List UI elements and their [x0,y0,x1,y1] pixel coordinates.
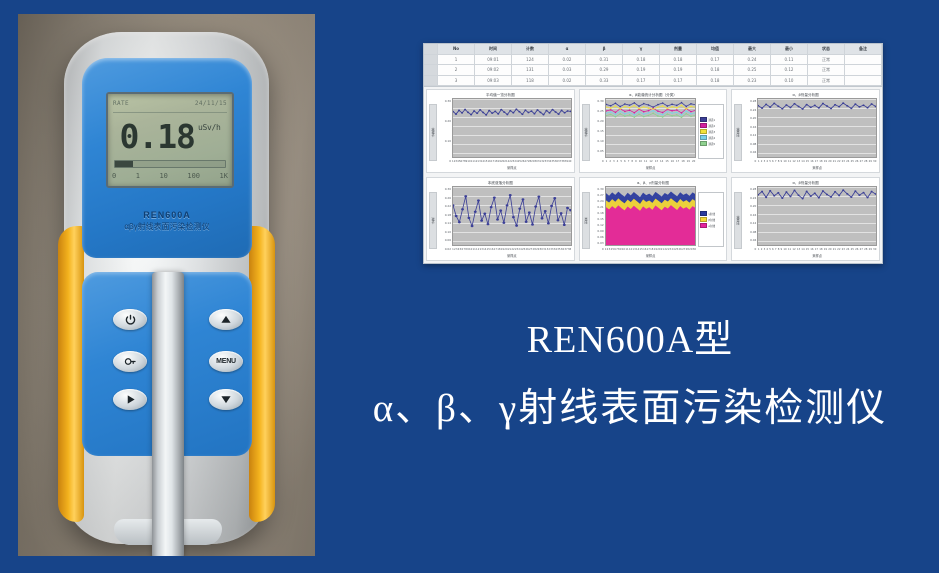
chart-data-point [563,224,566,226]
chart-x-axis-label: 采样点 [757,165,877,171]
table-cell: 0.29 [586,65,623,75]
chart-data-point [610,114,612,116]
chart-data-point [847,105,849,107]
chart-data-point [547,222,550,224]
chart-body: 计数率0.300.250.200.150.100.050123456789101… [582,98,725,171]
chart-x-ticks: 1234567891011121314151617181920212223242… [757,246,877,253]
chart-y-tick: 0.27 [591,193,604,197]
table-cell: 正常 [808,55,845,65]
legend-item: 通道2 [700,123,722,128]
chart-data-point [628,104,630,106]
chart-data-point [690,116,692,118]
chart-data-point [551,109,553,111]
chart-data-point [773,102,775,104]
table-header-cell: α [549,44,586,54]
chart-x-tick: 29 [869,248,872,251]
chart-data-point [790,107,792,109]
chart-x-tick: 17 [815,248,818,251]
legend-label: 通道4 [708,136,715,140]
chart-legend: 通道1通道2通道3通道4通道5 [698,104,724,159]
chart-y-tick: 0.20 [438,119,451,123]
chart-data-point [542,114,544,116]
legend-label: 通道1 [708,118,715,122]
chart-data-point [512,216,515,218]
table-row: 309:031180.020.330.170.170.180.230.10正常 [424,76,882,87]
chart-plot-area [605,186,697,246]
chart-x-axis-label: 采样点 [605,165,697,171]
chart-x-axis-label: 采样点 [605,253,697,259]
chart-data-point [500,109,502,111]
legend-swatch [700,117,707,122]
chart-data-point [606,115,607,117]
table-cell: 0.18 [697,65,734,75]
chart-data-point [661,114,663,116]
row-marker [424,55,438,65]
chart-x-axis-label: 采样点 [452,253,572,259]
chart-data-point [810,106,812,108]
chart-body: 剂量率0.280.240.200.160.120.080.04012345678… [734,98,877,171]
lcd-value: 0.18 [119,120,194,153]
chart-data-point [479,109,481,111]
legend-swatch [700,211,707,216]
chart-x-tick: 18 [819,160,822,163]
chart-body: 计数0.300.260.220.180.140.100.060.02123456… [429,186,572,259]
chart-x-tick: 8 [631,160,633,163]
legend-item: 通道5 [700,141,722,146]
chart-data-point [676,114,678,116]
chart-data-point [499,209,502,211]
chart-data-point [838,195,840,197]
chart-y-tick: 0.21 [591,205,604,209]
chart-data-point [798,106,800,108]
legend-label: β射线 [708,218,715,222]
chart-data-point [471,225,474,227]
chart-data-point [628,112,630,114]
chart-y-tick: 0 [743,247,756,251]
menu-button-label: MENU [216,358,236,365]
chart-data-point [782,108,784,110]
chart-y-ticks: 0.300.250.200.150.100.050 [591,98,605,171]
chart-y-ticks: 0.280.240.200.160.120.080.040 [743,186,757,259]
chart-data-point [826,194,828,196]
chart-x-tick: 5 [769,248,771,251]
chart-data-point [676,109,678,111]
chart-data-point [506,204,509,206]
chart-data-point [661,112,663,114]
chart-data-point [470,114,472,116]
chart-data-point [536,109,538,111]
chart-data-point [533,113,535,115]
chart-data-point [502,222,505,224]
chart-data-point [643,113,645,115]
chart-y-tick: 0.15 [591,217,604,221]
chart-plot-area [452,186,572,246]
device-lcd-display: RATE 24/11/15 0.18 uSv/h 01101001K [106,92,234,188]
chart-data-point [515,108,517,110]
chart-data-point [506,114,508,116]
chart-data-point [567,110,569,112]
table-cell: 0.19 [660,65,697,75]
chart-data-point [633,112,635,114]
chart-data-point [680,102,682,104]
up-button[interactable] [209,309,243,330]
chart-x-tick: 7 [775,248,777,251]
chart-data-point [685,113,687,115]
table-cell: 0.02 [549,76,586,86]
chart-data-point [473,110,475,112]
software-screenshot: No时间计数αβγ剂量均值最大最小状态备注109:011240.020.310.… [423,43,883,264]
chart-x-tick: 10 [639,160,642,163]
chart-data-point [485,114,487,116]
chart-data-point [524,109,526,111]
chart-y-axis-label: 计数率 [429,104,437,161]
chart-data-point [676,111,678,113]
table-cell: 0.17 [697,55,734,65]
chart-data-point [657,115,659,117]
chart-data-point [761,107,763,109]
table-cell: 09:01 [475,55,512,65]
chart-x-tick: 25 [851,160,854,163]
chart-y-tick: 0.09 [591,229,604,233]
legend-item: 通道3 [700,129,722,134]
chart-data-point [539,111,541,113]
chart-y-tick: 0 [591,247,604,251]
chart-plot-wrap: 1234567891011121314151617181920采样点 [605,98,697,171]
chart-y-tick: 0.10 [591,139,604,143]
chart-data-point [871,191,873,193]
chart-x-tick: 11 [788,248,791,251]
chart-x-tick: 5 [620,160,622,163]
chart-data-point [606,112,607,114]
chart-y-tick: 0 [743,159,756,163]
chart-data-point [525,221,528,223]
chart-data-point [606,104,607,106]
chart-data-point [695,107,696,109]
chart-x-tick: 15 [806,248,809,251]
chart-y-axis-label: 剂量率 [734,104,742,161]
chart-data-point [847,193,849,195]
chart-y-tick: 0.30 [438,99,451,103]
chart-data-point [633,116,635,118]
lcd-scale-tick: 1 [136,172,140,180]
chart-y-tick: 0.12 [591,223,604,227]
chart-data-point [461,112,463,114]
chart-data-point [509,194,512,196]
chart-data-point [695,112,696,114]
table-header-cell: β [586,44,623,54]
legend-item: γ射线 [700,211,722,216]
chart-data-point [531,223,534,225]
chart-data-point [666,113,668,115]
chart-data-point [863,192,865,194]
chart-x-tick: 12 [649,160,652,163]
menu-button[interactable]: MENU [209,351,243,372]
chart-y-tick: 0.16 [743,213,756,217]
chart-data-point [690,111,692,113]
chart-data-point [614,111,616,113]
table-cell [845,55,882,65]
lcd-scale-ticks: 01101001K [112,170,228,182]
chart-y-tick: 0.30 [591,187,604,191]
chart-x-tick: 22 [837,248,840,251]
chart-data-point [561,110,563,112]
table-header-cell: 时间 [475,44,512,54]
chart-y-tick: 0.10 [438,139,451,143]
chart-x-tick: 14 [660,160,663,163]
chart-data-point [467,111,469,113]
chart-data-point [680,114,682,116]
table-header-cell: 剂量 [660,44,697,54]
chart-data-point [867,197,869,199]
chart-data-point [638,111,640,113]
chart-x-tick: 17 [815,160,818,163]
chart-plot-area [757,98,877,158]
chart-x-tick: 3 [764,160,766,163]
power-button[interactable] [113,309,147,330]
chart-data-point [550,205,553,207]
chart-y-tick: 0.28 [743,187,756,191]
chart-data-point [695,110,696,112]
light-button[interactable] [113,351,147,372]
chart-data-point [488,110,490,112]
table-cell: 0.03 [549,65,586,75]
chart-x-tick: 4 [766,160,768,163]
chart-x-tick: 26 [855,160,858,163]
chart-data-point [769,190,771,192]
chart-y-axis-label: 计数率 [582,104,590,161]
chart-x-tick: 11 [788,160,791,163]
legend-label: 通道3 [708,130,715,134]
chart-data-point [633,114,635,116]
table-header-row: No时间计数αβγ剂量均值最大最小状态备注 [424,44,882,55]
legend-swatch [700,129,707,134]
chart-y-tick: 0.05 [591,149,604,153]
chart-x-ticks: 1234567891011121314151617181920212223242… [452,246,572,253]
table-cell: 正常 [808,65,845,75]
chart-x-tick: 7 [628,160,630,163]
chart-y-axis-label: 计数 [429,192,437,249]
chart-data-point [480,219,483,221]
chart-data-point [871,103,873,105]
chart-data-point [455,215,458,217]
chart-data-point [619,113,621,115]
lcd-scale-tick: 1K [220,172,228,180]
chart-y-tick: 0.12 [743,221,756,225]
legend-swatch [700,141,707,146]
chart-data-point [614,102,616,104]
legend-swatch [700,217,707,222]
chart-data-point [560,212,563,214]
chart-y-axis-label: 剂量率 [734,192,742,249]
chart-data-point [842,102,844,104]
chart-y-tick: 0.08 [743,142,756,146]
chart-y-tick: 0.28 [743,99,756,103]
chart-data-point [638,113,640,115]
chart-data-point [802,108,804,110]
chart-data-point [541,217,544,219]
chart-plot-wrap: 1234567891011121314151617181920212223242… [452,186,572,259]
chart-x-tick: 9 [635,160,637,163]
chart-x-tick: 28 [864,248,867,251]
chart-x-tick: 20 [828,248,831,251]
chart-data-point [680,116,682,118]
chart-y-tick: 0.06 [438,238,451,242]
legend-swatch [700,123,707,128]
chart-x-tick: 12 [792,248,795,251]
chart-data-point [671,115,673,117]
chart-data-point [474,211,477,213]
chart-data-point [624,106,626,108]
chart-data-point [518,207,521,209]
chart-data-point [773,195,775,197]
chart-data-point [851,107,853,109]
chart-y-tick: 0.30 [438,187,451,191]
chart-x-tick: 2 [761,160,763,163]
lcd-status-right: 24/11/15 [195,100,227,107]
table-cell: 2 [438,65,475,75]
chart-data-point [624,111,626,113]
chart-data-point [647,115,649,117]
chart-data-point [476,112,478,114]
chart-y-ticks: 0.280.240.200.160.120.080.040 [743,98,757,171]
chart-body: 剂量0.300.270.240.210.180.150.120.090.060.… [582,186,725,259]
chart-data-point [614,114,616,116]
chart-x-tick: 28 [864,160,867,163]
chart-data-point [643,106,645,108]
chart-x-tick: 3 [613,160,615,163]
chart-x-tick: 1 [758,160,760,163]
chart-y-tick: 0 [438,159,451,163]
chart-data-point [467,217,470,219]
slide-root: RATE 24/11/15 0.18 uSv/h 01101001K REN60… [0,0,939,573]
chart-x-tick: 30 [873,248,876,251]
up-arrow-icon [220,314,232,325]
chart-data-point [855,190,857,192]
lcd-unit: uSv/h [198,123,221,132]
chart-series-area [606,205,696,245]
chart-plot-wrap: 1234567891011121314151617181920212223242… [605,186,697,259]
chart-data-point [628,114,630,116]
chart-data-point [458,110,460,112]
chart-x-tick: 10 [783,248,786,251]
table-cell: 09:03 [475,76,512,86]
legend-item: 通道4 [700,135,722,140]
chart-data-point [647,110,649,112]
chart-data-point [624,115,626,117]
chart-data-point [685,110,687,112]
chart-x-tick: 16 [810,248,813,251]
chart-data-point [490,206,493,208]
chart-x-tick: 19 [824,160,827,163]
chart-y-tick: 0.26 [438,196,451,200]
chart-x-tick: 5 [769,160,771,163]
chart-data-point [633,105,635,107]
chart-grid: 平均值一览分析图计数率0.300.200.1001234567891011121… [424,87,882,263]
chart-data-point [769,106,771,108]
lcd-divider [113,112,227,113]
chart-data-point [830,108,832,110]
chart-x-tick: 15 [806,160,809,163]
lcd-scale-tick: 100 [187,172,200,180]
chart-y-tick: 0.12 [743,133,756,137]
chart-data-point [530,110,532,112]
device-grip-right [249,226,275,522]
chart-y-tick: 0.24 [743,108,756,112]
chart-data-point [537,196,540,198]
chart-data-point [834,191,836,193]
chart-alpha-rate: 平均值一览分析图计数率0.300.200.1001234567891011121… [426,89,575,173]
chart-x-tick: 9 [781,160,783,163]
chart-x-tick: 21 [833,248,836,251]
table-cell: 0.18 [623,55,660,65]
chart-x-tick: 13 [797,248,800,251]
lcd-scale-tick: 10 [159,172,167,180]
chart-data-point [859,106,861,108]
chart-data-point [464,195,467,197]
chart-x-tick: 11 [644,160,647,163]
chart-y-axis-label: 剂量 [582,192,590,249]
chart-data-point [822,103,824,105]
chart-data-point [657,106,659,108]
table-cell: 0.02 [549,55,586,65]
table-cell: 131 [512,65,549,75]
chart-body: 计数率0.300.200.100123456789101112131415161… [429,98,572,171]
table-header-cell: 最大 [734,44,771,54]
chart-data-point [566,207,569,209]
chart-x-tick: 2 [761,248,763,251]
device-branding: REN600A αβγ射线表面污染检测仪 [82,210,252,232]
chart-data-point [518,111,520,113]
chart-y-tick: 0.18 [438,213,451,217]
chart-data-point [643,116,645,118]
chart-data-point [765,104,767,106]
chart-y-ticks: 0.300.200.100 [438,98,452,171]
chart-data-point [802,198,804,200]
chart-y-tick: 0.04 [743,238,756,242]
chart-y-tick: 0.02 [438,247,451,251]
chart-data-point [680,112,682,114]
chart-x-tick: 8 [778,160,780,163]
chart-x-ticks: 1234567891011121314151617181920 [605,158,697,165]
chart-data-point [544,210,547,212]
chart-data-point [610,111,612,113]
legend-item: 通道1 [700,117,722,122]
chart-data-point [614,105,616,107]
chart-x-tick: 4 [766,248,768,251]
chart-stacked-channels: α、β、γ剂量分析图剂量0.300.270.240.210.180.150.12… [579,177,728,261]
chart-x-tick: 24 [846,160,849,163]
chart-x-tick: 13 [797,160,800,163]
chart-data-point [782,197,784,199]
chart-data-point [619,111,621,113]
chart-data-point [806,190,808,192]
down-button[interactable] [209,389,243,410]
chart-data-point [643,103,645,105]
chart-series-line [758,103,876,109]
chart-x-tick: 4 [617,160,619,163]
product-photo: RATE 24/11/15 0.18 uSv/h 01101001K REN60… [18,14,315,556]
chart-variance: 本底涨落分析图计数0.300.260.220.180.140.100.060.0… [426,177,575,261]
chart-body: 剂量率0.280.240.200.160.120.080.04012345678… [734,186,877,259]
chart-data-point [855,103,857,105]
row-marker [424,44,438,54]
start-button[interactable] [113,389,147,410]
chart-data-point [690,103,692,105]
chart-y-ticks: 0.300.260.220.180.140.100.060.02 [438,186,452,259]
chart-data-point [671,110,673,112]
table-cell: 0.33 [586,76,623,86]
chart-data-point [453,204,454,206]
